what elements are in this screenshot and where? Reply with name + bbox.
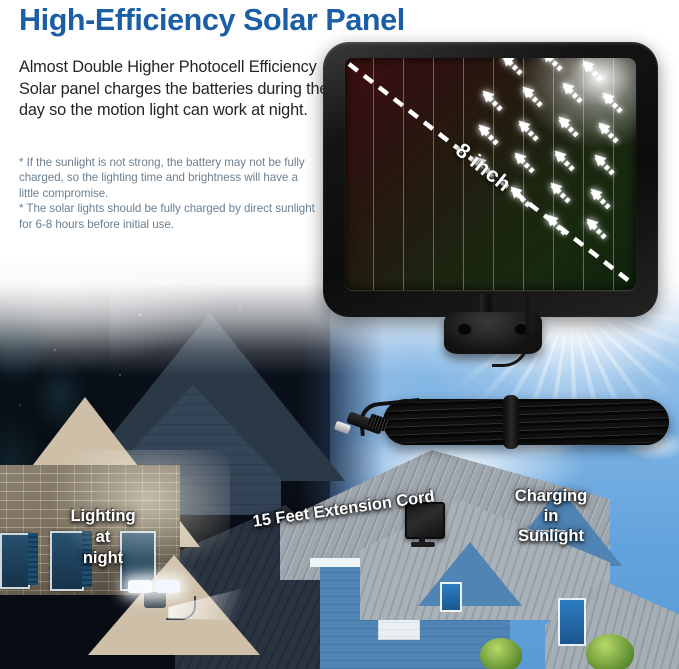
fixture-lamp-left: [128, 580, 152, 593]
cord-bundle: [383, 399, 669, 445]
wall-mount-bracket: [432, 300, 552, 370]
fixture-body: [144, 592, 166, 608]
caption-sun-line-1: Charging: [495, 486, 607, 506]
mini-panel-base: [411, 542, 435, 547]
panel-cell-surface: 8 inch: [345, 58, 636, 290]
extension-cord-coil: [345, 385, 675, 465]
cord-tie: [503, 395, 519, 449]
mount-screw-hole-left: [457, 322, 472, 335]
day-shrub-1: [480, 638, 522, 669]
day-window-2: [558, 598, 586, 646]
caption-sun-line-2: in: [495, 506, 607, 526]
product-infographic: 8 inch Lighting at night 15 Feet Extensi…: [0, 0, 679, 669]
day-house: [330, 430, 679, 669]
caption-charging-in-sunlight: Charging in Sunlight: [495, 486, 607, 546]
solar-panel: 8 inch: [323, 42, 658, 317]
caption-lighting-at-night: Lighting at night: [48, 506, 158, 569]
caption-sun-line-3: Sunlight: [495, 526, 607, 546]
mount-wire: [492, 292, 529, 367]
day-window-1: [440, 582, 462, 612]
day-gable2: [418, 542, 522, 606]
caption-night-line-1: Lighting: [48, 506, 158, 527]
fixture-lamp-right: [156, 580, 180, 593]
motion-light-fixture: [128, 580, 184, 606]
caption-night-line-3: night: [48, 548, 158, 569]
caption-night-line-2: at: [48, 527, 158, 548]
day-shrub-2: [586, 634, 634, 669]
sunlight-arrows: [495, 60, 636, 250]
